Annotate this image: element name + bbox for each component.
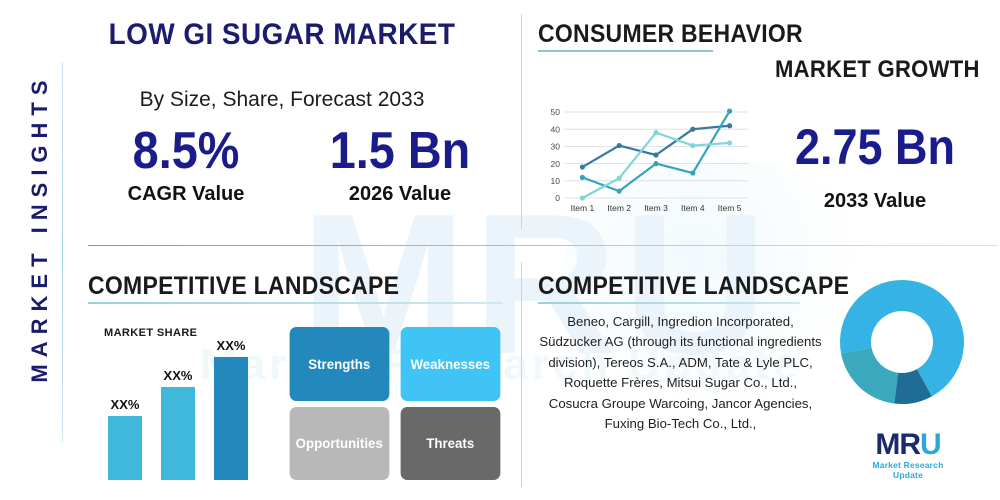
stat-cagr: 8.5% CAGR Value: [86, 125, 286, 206]
vertical-divider-bottom: [521, 262, 522, 487]
market-growth-heading: MARKET GROWTH: [775, 56, 980, 84]
swot-cell-weaknesses: Weaknesses: [400, 327, 499, 401]
bar-rect: [108, 416, 142, 480]
svg-text:0: 0: [555, 193, 560, 203]
logo-wordmark: MRU: [858, 428, 958, 462]
brand-logo: MRU Market Research Update: [858, 428, 958, 480]
company-list: Beneo, Cargill, Ingredion Incorporated, …: [538, 312, 823, 435]
donut-slice: [841, 348, 898, 404]
svg-text:Item 2: Item 2: [607, 203, 631, 213]
stat-2026-label: 2026 Value: [300, 183, 500, 206]
svg-text:30: 30: [551, 142, 561, 152]
line-chart-y-tick-labels: 01020304050: [551, 107, 561, 203]
swot-cell-threats: Threats: [400, 407, 499, 481]
logo-tagline: Market Research Update: [858, 460, 958, 480]
svg-text:Item 3: Item 3: [644, 203, 668, 213]
stat-2026-value: 1.5 Bn: [310, 125, 490, 177]
svg-text:Item 1: Item 1: [571, 203, 595, 213]
svg-text:40: 40: [551, 124, 561, 134]
bar-value-label: XX%: [108, 397, 142, 412]
donut-slices: [840, 280, 964, 404]
swot-cell-strengths: Strengths: [290, 327, 389, 401]
consumer-behavior-rule: [538, 50, 713, 52]
line-chart-series: [580, 109, 732, 201]
swot-label: Opportunities: [296, 435, 383, 451]
rail-divider: [62, 62, 63, 442]
consumer-behavior-heading: CONSUMER BEHAVIOR: [538, 20, 803, 49]
svg-text:Item 5: Item 5: [718, 203, 742, 213]
swot-label: Threats: [426, 435, 474, 451]
stat-2026: 1.5 Bn 2026 Value: [300, 125, 500, 206]
market-segment-donut-chart: [838, 278, 966, 406]
bar-rect: [214, 357, 248, 480]
market-growth-value: 2.75 Bn: [790, 118, 961, 176]
bar-value-label: XX%: [161, 368, 195, 383]
market-share-label: MARKET SHARE: [104, 327, 197, 339]
stat-cagr-value: 8.5%: [96, 125, 276, 177]
market-share-bar-chart: XX%XX%XX%: [100, 340, 280, 480]
horizontal-divider: [88, 245, 998, 246]
consumer-behavior-line-chart: 01020304050 Item 1Item 2Item 3Item 4Item…: [538, 100, 753, 220]
svg-text:20: 20: [551, 159, 561, 169]
logo-mark-right: U: [920, 428, 941, 461]
bar-column: XX%: [108, 416, 142, 480]
vertical-divider-top: [521, 14, 522, 229]
svg-text:50: 50: [551, 107, 561, 117]
line-chart-x-tick-labels: Item 1Item 2Item 3Item 4Item 5: [571, 203, 742, 213]
svg-text:10: 10: [551, 176, 561, 186]
competitive-landscape-left-heading: COMPETITIVE LANDSCAPE: [88, 272, 399, 301]
svg-text:Item 4: Item 4: [681, 203, 705, 213]
market-growth-label: 2033 Value: [780, 190, 970, 213]
competitive-landscape-right-rule: [538, 302, 800, 304]
page-title: LOW GI SUGAR MARKET: [77, 18, 486, 52]
competitive-landscape-left-rule: [88, 302, 503, 304]
swot-label: Weaknesses: [410, 356, 490, 372]
swot-cell-opportunities: Opportunities: [290, 407, 389, 481]
bar-column: XX%: [214, 357, 248, 480]
competitive-landscape-right-heading: COMPETITIVE LANDSCAPE: [538, 272, 849, 301]
stat-cagr-label: CAGR Value: [86, 183, 286, 206]
page-subtitle: By Size, Share, Forecast 2033: [62, 88, 502, 112]
donut-slice: [840, 280, 902, 354]
bar-rect: [161, 387, 195, 480]
left-rail: MARKET INSIGHTS: [0, 0, 62, 500]
bar-value-label: XX%: [214, 338, 248, 353]
bar-column: XX%: [161, 387, 195, 480]
rail-label: MARKET INSIGHTS: [27, 18, 53, 438]
logo-mark-left: MR: [875, 428, 920, 461]
swot-grid: Strengths Weaknesses Opportunities Threa…: [287, 327, 502, 480]
swot-label: Strengths: [308, 356, 370, 372]
